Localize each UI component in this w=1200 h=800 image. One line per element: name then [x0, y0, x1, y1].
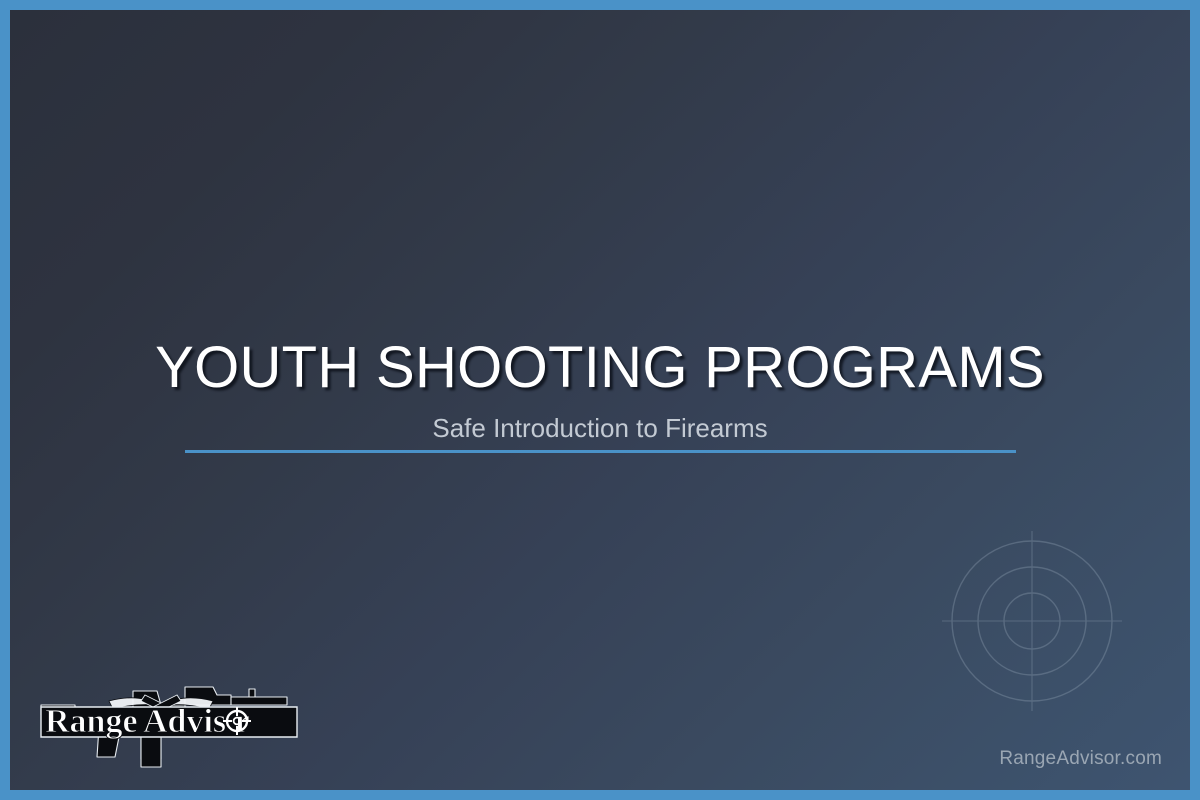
slide-canvas: YOUTH SHOOTING PROGRAMS Safe Introductio…: [10, 10, 1190, 790]
title-divider-rule: [185, 450, 1016, 453]
page-subtitle: Safe Introduction to Firearms: [10, 412, 1190, 444]
brand-logo-wordmark-range: Range: [45, 703, 138, 740]
crosshair-target-icon: [931, 520, 1133, 722]
footer-website-url: RangeAdvisor.com: [999, 748, 1162, 770]
page-title: YOUTH SHOOTING PROGRAMS: [10, 337, 1190, 399]
presentation-slide: YOUTH SHOOTING PROGRAMS Safe Introductio…: [0, 0, 1200, 800]
brand-logo: Range Advis r: [35, 675, 305, 770]
